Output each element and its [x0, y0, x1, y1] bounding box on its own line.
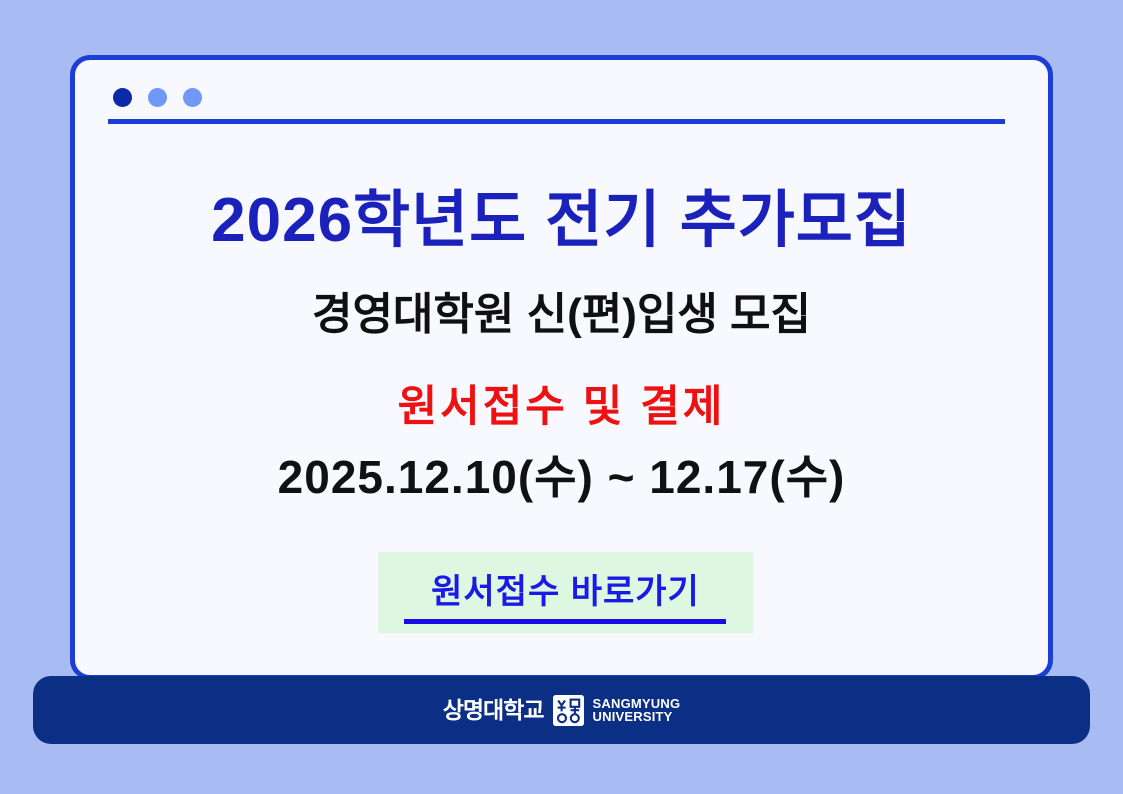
sangmyung-emblem-icon	[553, 695, 584, 726]
apply-link-underline	[404, 619, 726, 624]
apply-link-label: 원서접수 바로가기	[378, 564, 753, 613]
university-logo-english-line2: UNIVERSITY	[593, 710, 681, 723]
university-logo-korean: 상명대학교	[443, 699, 544, 722]
application-phase-label: 원서접수 및 결제	[75, 385, 1048, 430]
footer-bar: 상명대학교 SANGMYUNG	[33, 676, 1090, 744]
banner-card: 2026학년도 전기 추가모집 경영대학원 신(편)입생 모집 원서접수 및 결…	[70, 55, 1053, 680]
page-subtitle: 경영대학원 신(편)입생 모집	[75, 292, 1048, 338]
admissions-banner: 2026학년도 전기 추가모집 경영대학원 신(편)입생 모집 원서접수 및 결…	[0, 0, 1123, 794]
university-logo-english: SANGMYUNG UNIVERSITY	[593, 697, 681, 724]
university-logo: 상명대학교 SANGMYUNG	[443, 693, 681, 727]
page-title: 2026학년도 전기 추가모집	[75, 188, 1048, 253]
university-logo-english-line1: SANGMYUNG	[593, 697, 681, 710]
apply-link-button[interactable]: 원서접수 바로가기	[378, 552, 753, 633]
banner-content: 2026학년도 전기 추가모집 경영대학원 신(편)입생 모집 원서접수 및 결…	[75, 60, 1048, 675]
application-date-range: 2025.12.10(수) ~ 12.17(수)	[75, 453, 1048, 501]
